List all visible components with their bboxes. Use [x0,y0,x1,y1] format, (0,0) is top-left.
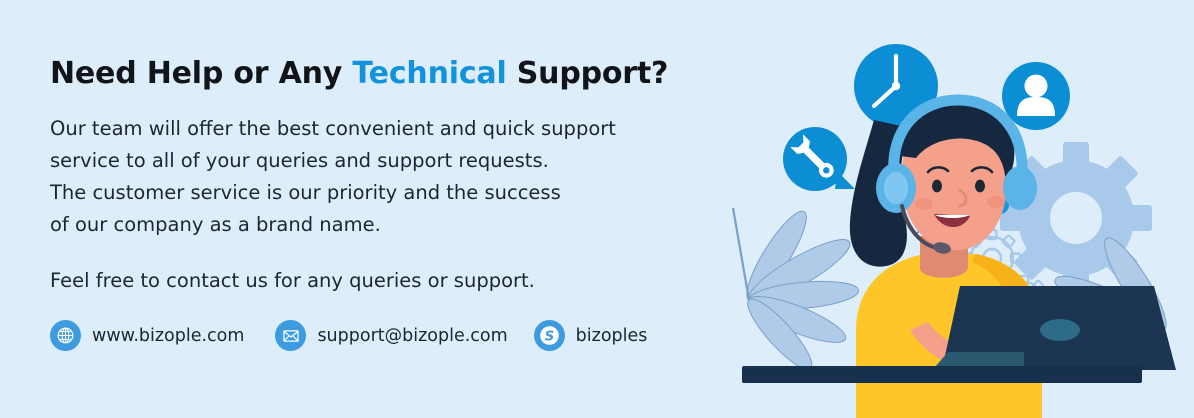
support-banner: Need Help or Any Technical Support? Our … [0,0,1194,418]
contact-email-label: support@bizople.com [317,326,507,346]
cta-paragraph: Feel free to contact us for any queries … [50,267,740,295]
wrench-speech-bubble-icon [783,127,855,191]
contact-website[interactable]: www.bizople.com [50,320,244,351]
body-line-4: of our company as a brand name. [50,209,740,241]
leaf-foliage [733,205,860,376]
text-content: Need Help or Any Technical Support? Our … [50,56,740,295]
blush-left [915,198,933,210]
eye-right [975,180,985,193]
blush-right [987,196,1005,208]
contact-skype-label: bizoples [576,326,648,346]
contact-email[interactable]: support@bizople.com [275,320,507,351]
svg-text:S: S [544,329,554,345]
contact-skype[interactable]: S bizoples [534,320,648,351]
contact-row: www.bizople.com support@bizople.com S [50,320,647,351]
skype-icon: S [534,320,565,351]
desk [742,366,1142,383]
headline-part-before: Need Help or Any [50,56,352,91]
envelope-icon [275,320,306,351]
body-line-3: The customer service is our priority and… [50,177,740,209]
headline-accent-word: Technical [352,56,506,91]
support-agent-illustration [724,0,1194,418]
laptop-logo [1040,319,1080,341]
laptop [934,286,1176,370]
globe-icon [50,320,81,351]
headline-part-after: Support? [507,56,669,91]
contact-website-label: www.bizople.com [92,326,244,346]
laptop-base [934,352,1024,368]
body-line-1: Our team will offer the best convenient … [50,113,740,145]
eye-left [932,180,942,193]
headset-cup-right [1003,166,1037,210]
body-paragraph: Our team will offer the best convenient … [50,113,740,241]
body-line-2: service to all of your queries and suppo… [50,145,740,177]
page-title: Need Help or Any Technical Support? [50,56,740,91]
